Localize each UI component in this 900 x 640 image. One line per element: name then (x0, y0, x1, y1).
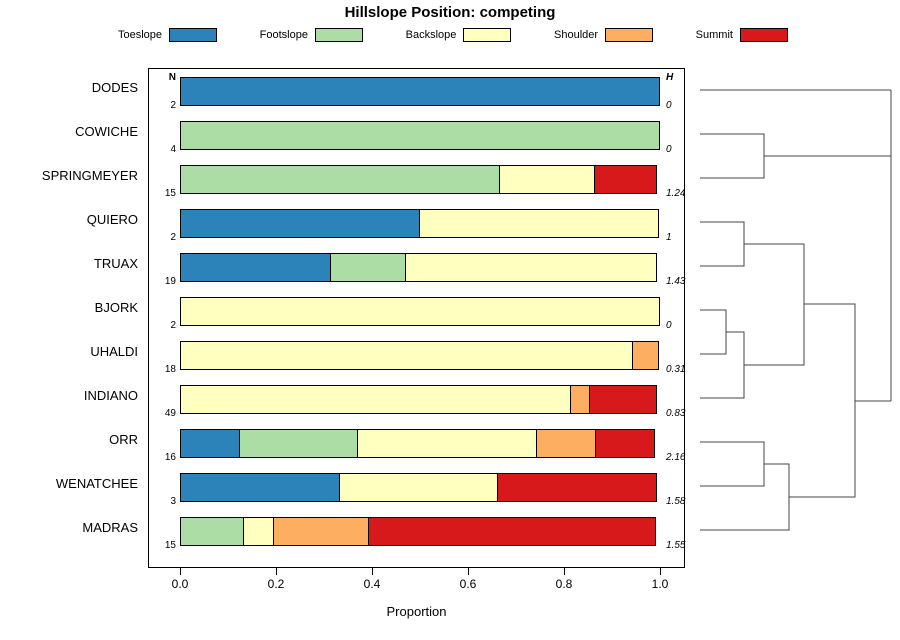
row-h-value: 2.16 (666, 452, 700, 463)
bar-segment-toeslope[interactable] (180, 209, 420, 238)
row-h-value: 0.31 (666, 364, 700, 375)
dendro-merge-quiero-truax (700, 222, 744, 266)
legend-swatch-backslope (463, 28, 511, 42)
stacked-bar (180, 341, 660, 370)
bar-segment-toeslope[interactable] (180, 253, 332, 282)
row-n-value: 15 (150, 540, 176, 551)
x-tick-mark (468, 568, 469, 575)
row-h-value: 0 (666, 320, 700, 331)
legend-label: Shoulder (554, 29, 598, 41)
bar-segment-footslope[interactable] (180, 517, 244, 546)
row-n-value: 18 (150, 364, 176, 375)
stacked-bar (180, 121, 660, 150)
bar-segment-footslope[interactable] (330, 253, 406, 282)
row-h-value: 1.55 (666, 540, 700, 551)
legend-label: Summit (696, 29, 733, 41)
row-n-value: 49 (150, 408, 176, 419)
bar-segment-backslope[interactable] (357, 429, 537, 458)
bar-segment-summit[interactable] (497, 473, 657, 502)
dendrogram (700, 68, 900, 568)
row-h-value: 0.83 (666, 408, 700, 419)
legend-swatch-toeslope (169, 28, 217, 42)
x-tick-mark (276, 568, 277, 575)
row-n-value: 19 (150, 276, 176, 287)
row-h-value: 0 (666, 144, 700, 155)
legend-swatch-footslope (315, 28, 363, 42)
bar-segment-footslope[interactable] (239, 429, 359, 458)
x-tick-label: 0.6 (460, 577, 477, 591)
row-label-uhaldi: UHALDI (0, 344, 138, 359)
stacked-bar (180, 165, 660, 194)
row-n-value: 15 (150, 188, 176, 199)
legend-swatch-summit (740, 28, 788, 42)
stacked-bar (180, 209, 660, 238)
x-tick-mark (372, 568, 373, 575)
x-tick-label: 1.0 (652, 577, 669, 591)
x-tick-label: 0.4 (364, 577, 381, 591)
row-n-value: 3 (150, 496, 176, 507)
bar-segment-shoulder[interactable] (536, 429, 596, 458)
x-tick-mark (564, 568, 565, 575)
x-tick-mark (660, 568, 661, 575)
bar-segment-summit[interactable] (594, 165, 658, 194)
stacked-bar (180, 385, 660, 414)
row-n-value: 2 (150, 100, 176, 111)
row-label-truax: TRUAX (0, 256, 138, 271)
bar-segment-backslope[interactable] (405, 253, 657, 282)
bar-segment-footslope[interactable] (180, 121, 660, 150)
row-label-cowiche: COWICHE (0, 124, 138, 139)
row-label-quiero: QUIERO (0, 212, 138, 227)
bar-segment-shoulder[interactable] (570, 385, 590, 414)
row-label-madras: MADRAS (0, 520, 138, 535)
stacked-bar (180, 77, 660, 106)
bar-segment-footslope[interactable] (180, 165, 500, 194)
row-n-value: 2 (150, 232, 176, 243)
bar-segment-toeslope[interactable] (180, 473, 340, 502)
dendro-merge-cowiche-springmeyer (700, 134, 764, 178)
x-axis: 0.00.20.40.60.81.0 (148, 568, 685, 598)
row-n-value: 4 (150, 144, 176, 155)
legend-label: Backslope (406, 29, 457, 41)
bar-segment-toeslope[interactable] (180, 77, 660, 106)
bar-segment-summit[interactable] (589, 385, 658, 414)
dendro-merge-bjork-uhaldi (700, 310, 726, 354)
row-label-orr: ORR (0, 432, 138, 447)
stacked-bar (180, 517, 660, 546)
x-tick-label: 0.2 (268, 577, 285, 591)
dendro-merge-bjorkuhaldi-indiano (700, 332, 744, 398)
dendro-merge-orrwenatchee-madras (700, 464, 789, 530)
stacked-bar (180, 253, 660, 282)
row-h-value: 1.24 (666, 188, 700, 199)
legend-label: Toeslope (118, 29, 162, 41)
row-h-value: 1 (666, 232, 700, 243)
stacked-bar (180, 429, 660, 458)
stacked-bar (180, 473, 660, 502)
row-label-springmeyer: SPRINGMEYER (0, 168, 138, 183)
legend-entry-backslope[interactable]: Backslope (406, 28, 512, 42)
bar-segment-backslope[interactable] (243, 517, 275, 546)
dendro-merge-middle-cluster (744, 244, 804, 365)
row-n-value: 16 (150, 452, 176, 463)
x-tick-mark (180, 568, 181, 575)
legend-swatch-shoulder (605, 28, 653, 42)
legend-entry-toeslope[interactable]: Toeslope (118, 28, 217, 42)
row-h-value: 1.43 (666, 276, 700, 287)
page-title: Hillslope Position: competing (0, 4, 900, 21)
bar-segment-shoulder[interactable] (273, 517, 369, 546)
row-h-value: 0 (666, 100, 700, 111)
row-label-indiano: INDIANO (0, 388, 138, 403)
x-tick-label: 0.8 (556, 577, 573, 591)
x-axis-title: Proportion (148, 604, 685, 619)
x-tick-label: 0.0 (172, 577, 189, 591)
legend: ToeslopeFootslopeBackslopeShoulderSummit (118, 26, 788, 43)
row-label-wenatchee: WENATCHEE (0, 476, 138, 491)
bar-segment-summit[interactable] (368, 517, 656, 546)
chart-root: Hillslope Position: competing ToeslopeFo… (0, 0, 900, 640)
stacked-bar (180, 297, 660, 326)
row-h-value: 1.58 (666, 496, 700, 507)
bar-segment-shoulder[interactable] (632, 341, 659, 370)
bar-segment-backslope[interactable] (499, 165, 595, 194)
legend-label: Footslope (260, 29, 308, 41)
legend-entry-shoulder[interactable]: Shoulder (554, 28, 653, 42)
dendro-merge-orr-wenatchee (700, 442, 764, 486)
dendro-merge-lower-upper (789, 304, 855, 497)
legend-entry-footslope[interactable]: Footslope (260, 28, 363, 42)
bar-segment-backslope[interactable] (419, 209, 659, 238)
bar-segment-summit[interactable] (595, 429, 655, 458)
dendrogram-svg (700, 68, 900, 568)
bar-segment-backslope[interactable] (180, 385, 572, 414)
bar-segment-toeslope[interactable] (180, 429, 240, 458)
legend-entry-summit[interactable]: Summit (696, 28, 788, 42)
row-n-value: 2 (150, 320, 176, 331)
bar-segment-backslope[interactable] (339, 473, 499, 502)
row-label-bjork: BJORK (0, 300, 138, 315)
bar-segment-backslope[interactable] (180, 341, 633, 370)
bar-segment-backslope[interactable] (180, 297, 660, 326)
row-label-dodes: DODES (0, 80, 138, 95)
